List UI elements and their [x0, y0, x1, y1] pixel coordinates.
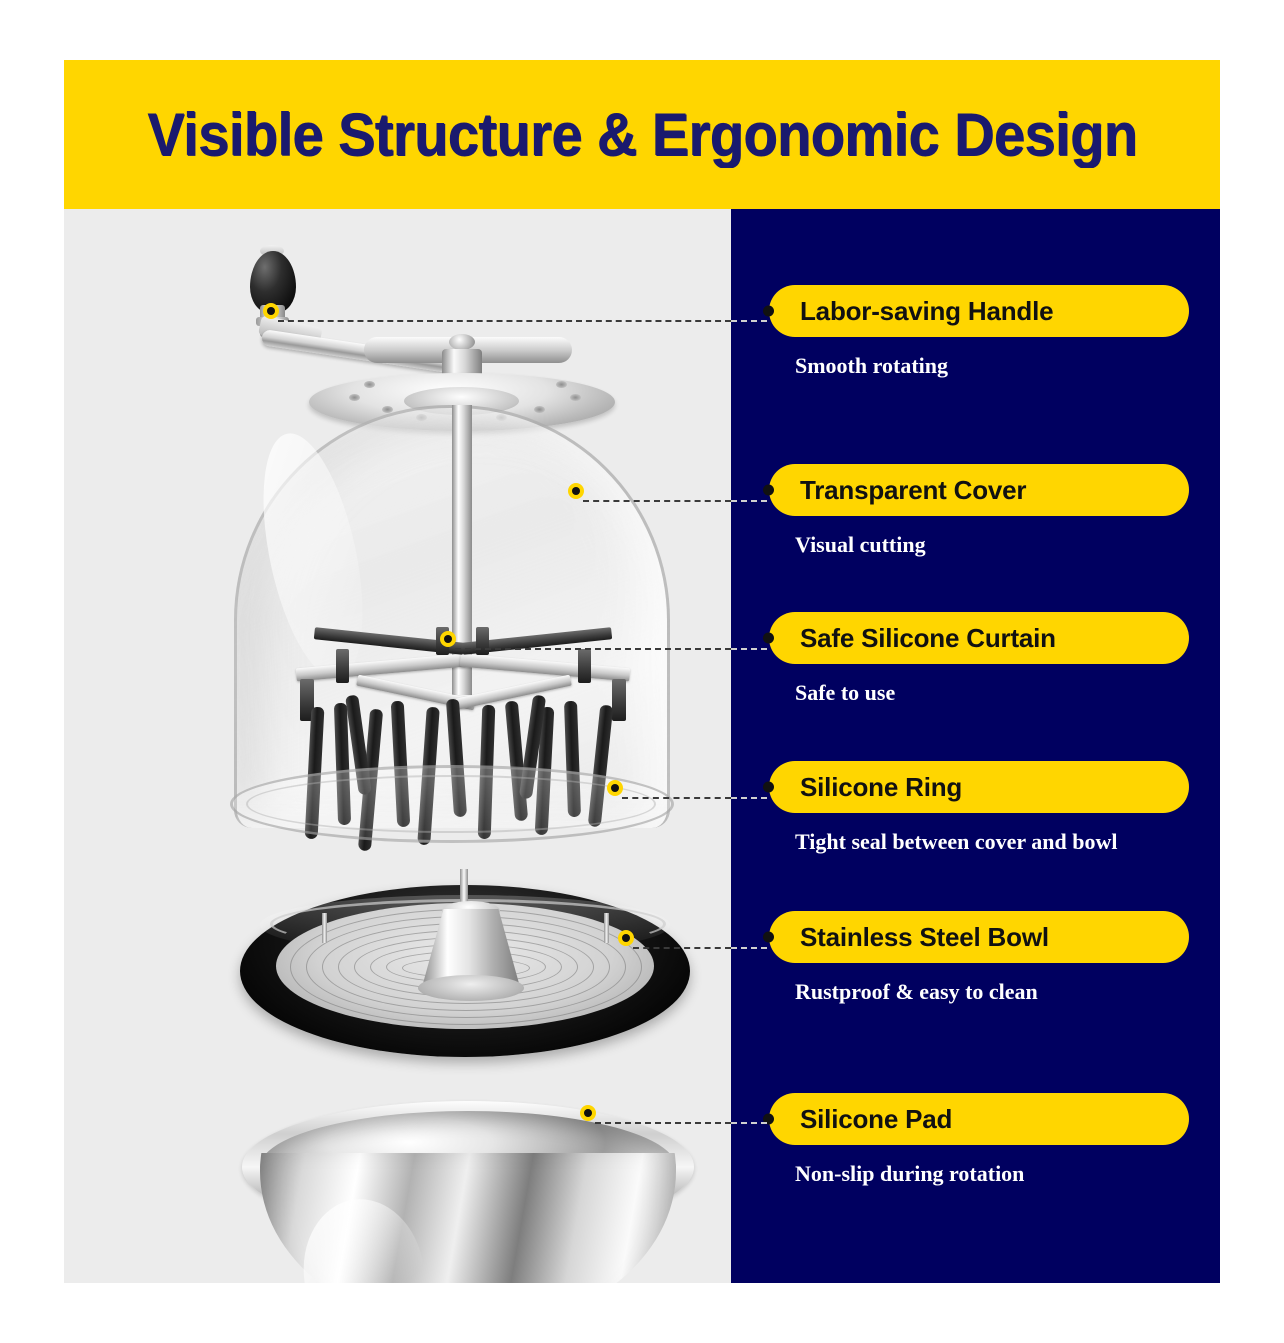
anchor-dot-bowl: [618, 930, 634, 946]
feature-pill[interactable]: Stainless Steel Bowl: [769, 911, 1189, 963]
feature-pill[interactable]: Labor-saving Handle: [769, 285, 1189, 337]
connector-dot: [763, 782, 774, 793]
feature-pill[interactable]: Safe Silicone Curtain: [769, 612, 1189, 664]
page-title: Visible Structure & Ergonomic Design: [147, 100, 1137, 169]
blade-arm-end: [578, 649, 591, 683]
disc-hole: [534, 406, 545, 413]
leader-line-ring: [622, 797, 731, 799]
anchor-dot-ring: [607, 780, 623, 796]
feature-label: Safe Silicone Curtain: [800, 623, 1056, 654]
leader-line-pad-navy: [731, 1122, 767, 1124]
leader-line-ring-navy: [731, 797, 767, 799]
feature-label: Silicone Pad: [800, 1104, 952, 1135]
feature-list-panel: Labor-saving Handle Smooth rotating Tran…: [731, 209, 1220, 1283]
infographic-canvas: Visible Structure & Ergonomic Design: [0, 0, 1284, 1343]
feature-item-transparent-cover[interactable]: Transparent Cover Visual cutting: [731, 464, 1220, 558]
feature-subtitle: Non-slip during rotation: [795, 1161, 1220, 1187]
feature-item-silicone-ring[interactable]: Silicone Ring Tight seal between cover a…: [731, 761, 1220, 855]
feature-label: Transparent Cover: [800, 475, 1026, 506]
feature-label: Labor-saving Handle: [800, 296, 1053, 327]
crank-center-bolt: [449, 334, 475, 350]
leader-line-curtain-navy: [731, 648, 767, 650]
anchor-dot-handle: [263, 303, 279, 319]
header-band: Visible Structure & Ergonomic Design: [64, 60, 1220, 209]
connector-dot: [763, 485, 774, 496]
connector-dot: [763, 306, 774, 317]
feature-pill[interactable]: Silicone Ring: [769, 761, 1189, 813]
connector-dot: [763, 633, 774, 644]
feature-label: Silicone Ring: [800, 772, 962, 803]
feature-pill[interactable]: Silicone Pad: [769, 1093, 1189, 1145]
blade-arm-end: [336, 649, 349, 683]
feature-subtitle: Visual cutting: [795, 532, 1220, 558]
screen-clip: [322, 913, 327, 943]
anchor-dot-pad: [580, 1105, 596, 1121]
disc-hole: [349, 394, 360, 401]
leader-line-curtain: [455, 648, 731, 650]
leader-line-pad: [595, 1122, 731, 1124]
feature-item-silicone-pad[interactable]: Silicone Pad Non-slip during rotation: [731, 1093, 1220, 1187]
feature-subtitle: Tight seal between cover and bowl: [795, 829, 1220, 855]
screen-clip: [604, 913, 609, 943]
feature-label: Stainless Steel Bowl: [800, 922, 1049, 953]
feature-subtitle: Smooth rotating: [795, 353, 1220, 379]
leader-line-bowl: [633, 947, 731, 949]
feature-item-stainless-steel-bowl[interactable]: Stainless Steel Bowl Rustproof & easy to…: [731, 911, 1220, 1005]
leader-line-cover: [583, 500, 731, 502]
feature-pill[interactable]: Transparent Cover: [769, 464, 1189, 516]
anchor-dot-cover: [568, 483, 584, 499]
feature-item-labor-saving-handle[interactable]: Labor-saving Handle Smooth rotating: [731, 285, 1220, 379]
anchor-dot-curtain: [440, 631, 456, 647]
leader-line-cover-navy: [731, 500, 767, 502]
dome-bottom-rim-inner: [246, 775, 656, 833]
connector-dot: [763, 932, 774, 943]
hub-cone-base: [418, 975, 524, 1001]
feature-item-safe-silicone-curtain[interactable]: Safe Silicone Curtain Safe to use: [731, 612, 1220, 706]
feature-subtitle: Rustproof & easy to clean: [795, 979, 1220, 1005]
leader-line-handle: [278, 320, 731, 322]
disc-hole: [364, 381, 375, 388]
disc-hole: [570, 394, 581, 401]
feature-subtitle: Safe to use: [795, 680, 1220, 706]
blade-arm-end: [476, 627, 489, 655]
leader-line-handle-navy: [731, 320, 767, 322]
disc-hole: [556, 381, 567, 388]
blade-arm-end: [612, 679, 626, 721]
leader-line-bowl-navy: [731, 947, 767, 949]
